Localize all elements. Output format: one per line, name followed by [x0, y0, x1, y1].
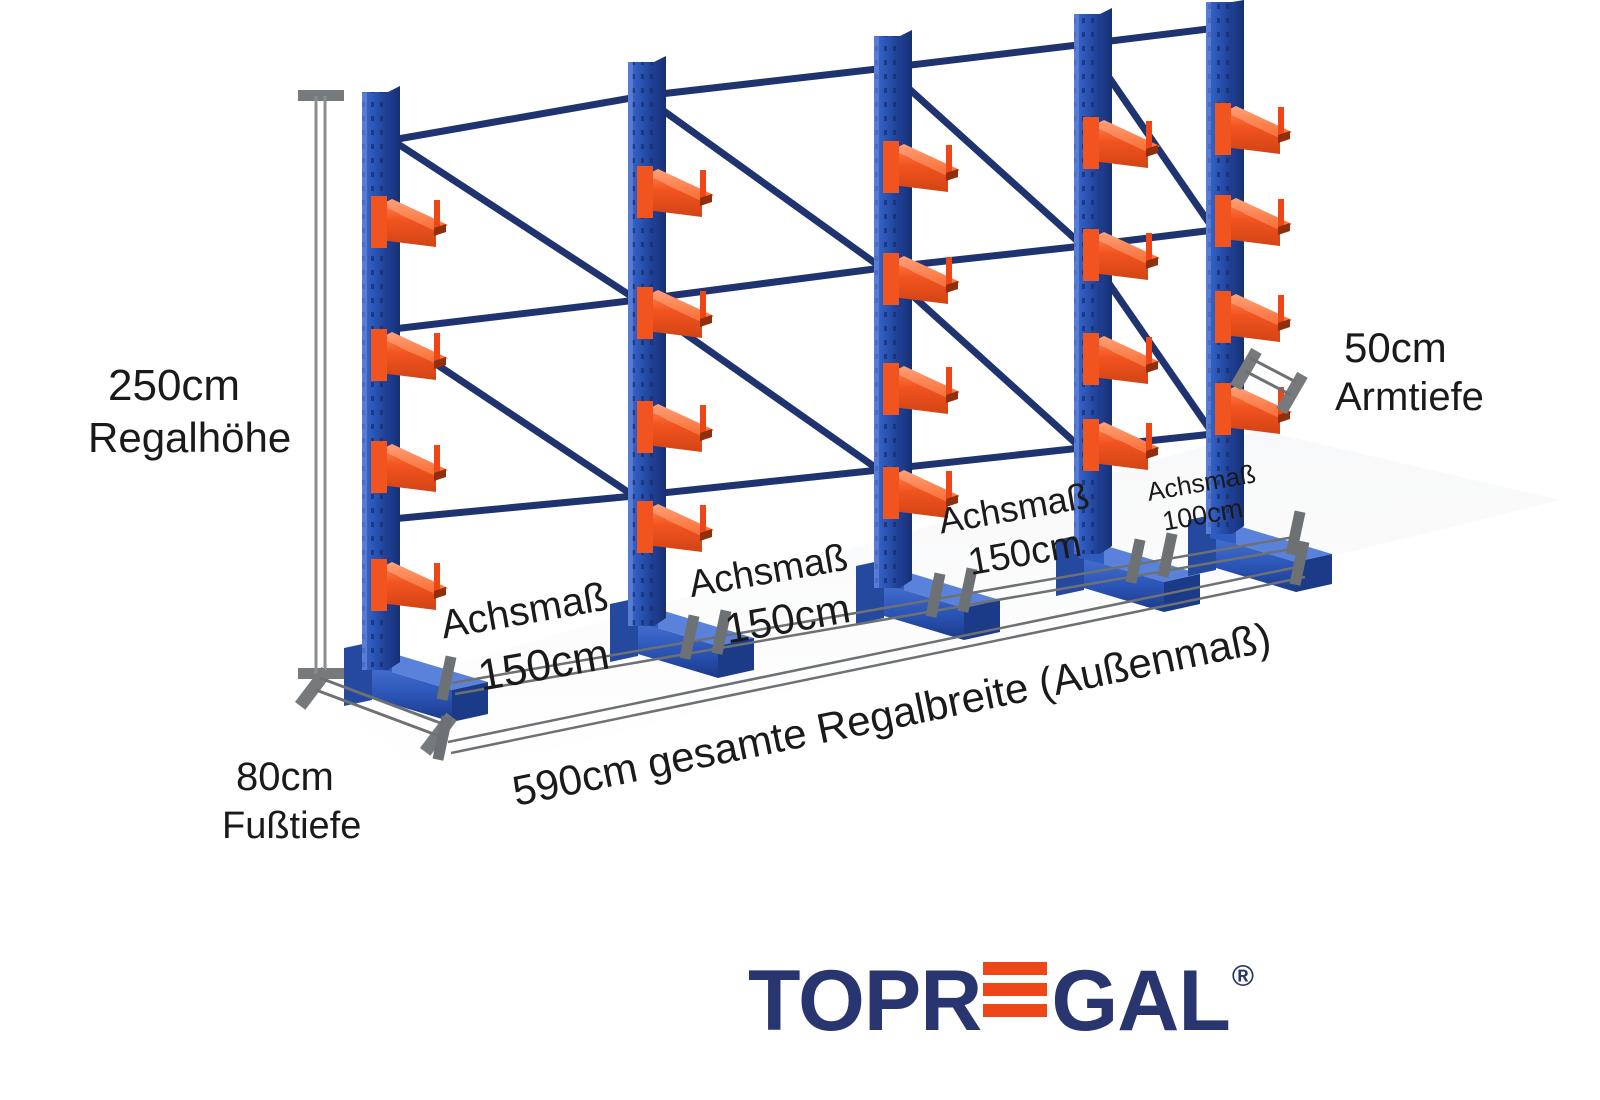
- arm-depth-value: 50cm: [1344, 324, 1447, 371]
- dimension-height: [298, 90, 344, 679]
- cantilever-arm: [371, 559, 448, 611]
- logo-e-icon: [983, 958, 1047, 1020]
- cantilever-arm: [637, 501, 714, 553]
- cantilever-arm: [1083, 117, 1160, 169]
- cantilever-arm: [883, 363, 960, 415]
- cantilever-arm: [1215, 103, 1292, 155]
- arm-depth-label: Armtiefe: [1335, 375, 1484, 419]
- registered-trademark-icon: ®: [1232, 960, 1254, 994]
- foot-depth-value: 80cm: [236, 755, 334, 799]
- diagram-canvas: 250cm Regalhöhe 80cm Fußtiefe 50cm Armti…: [0, 0, 1600, 1100]
- cantilever-arm: [371, 329, 448, 381]
- foot-depth-label: Fußtiefe: [222, 805, 361, 847]
- cantilever-arm: [1215, 291, 1292, 343]
- cantilever-arm: [371, 196, 448, 248]
- height-label: Regalhöhe: [88, 414, 291, 461]
- cantilever-arm: [637, 166, 714, 218]
- cantilever-arm: [371, 441, 448, 493]
- logo-text-part2: GAL: [1051, 958, 1230, 1044]
- logo-text-part1: TOPR: [748, 958, 981, 1044]
- cantilever-arm: [883, 141, 960, 193]
- cantilever-arm: [637, 401, 714, 453]
- cantilever-rack-drawing: 250cm Regalhöhe 80cm Fußtiefe 50cm Armti…: [0, 0, 1600, 1100]
- cantilever-arm: [1083, 333, 1160, 385]
- cantilever-arm: [1083, 229, 1160, 281]
- height-value: 250cm: [108, 361, 240, 410]
- cantilever-arm: [1215, 195, 1292, 247]
- topregal-logo: TOPR GAL ®: [748, 958, 1254, 1044]
